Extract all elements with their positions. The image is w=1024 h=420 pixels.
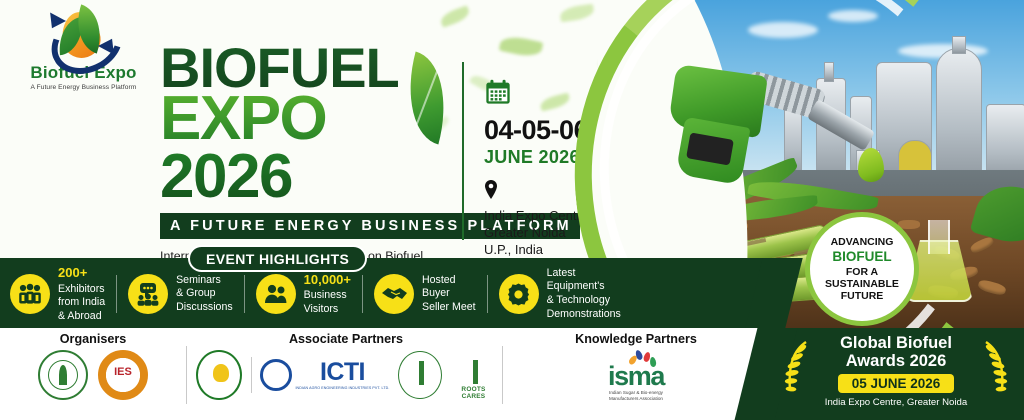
badge-line-4: SUSTAINABLE: [825, 278, 899, 290]
roots-cares-logo[interactable]: ROOTS CARES: [451, 351, 496, 400]
logo-mark-icon: [44, 8, 124, 63]
knowledge-partners-column: Knowledge Partners isma Indian Sugar & B…: [512, 332, 760, 402]
awards-date-badge: 05 JUNE 2026: [838, 374, 955, 393]
highlight-line: Equipment's: [547, 280, 605, 292]
highlight-line: Buyer: [422, 287, 450, 299]
organisers-title: Organisers: [0, 332, 186, 346]
highlight-line: Hosted: [422, 274, 456, 286]
highlight-line: & Abroad: [58, 310, 102, 322]
awards-venue: India Expo Centre, Greater Noida: [768, 397, 1024, 408]
highlight-line: Business: [304, 289, 347, 301]
awards-title-line-1: Global Biofuel: [768, 334, 1024, 352]
handshake-icon: [374, 274, 414, 314]
highlight-item-seminars: Seminars & Group Discussions: [128, 274, 233, 315]
icti-wordmark: ICTI: [295, 360, 389, 385]
sugarcane-institute-logo[interactable]: [196, 350, 242, 400]
footer-divider: [186, 346, 187, 404]
highlight-value: 200+: [58, 265, 105, 282]
isma-burst-icon: [512, 350, 760, 364]
biofuel-expo-logo[interactable]: Biofuel Expo A Future Energy Business Pl…: [16, 8, 151, 96]
badge-line-2: BIOFUEL: [832, 249, 891, 265]
highlight-line: Discussions: [176, 301, 233, 313]
event-highlights-pill: EVENT HIGHLIGHTS: [188, 245, 367, 272]
knowledge-partners-title: Knowledge Partners: [512, 332, 760, 346]
highlight-item-equipment: Latest Equipment's & Technology Demonstr…: [499, 267, 621, 321]
footer-divider: [502, 346, 503, 404]
location-pin-icon: [484, 180, 498, 199]
roots-cares-label: ROOTS CARES: [451, 386, 496, 400]
highlight-line: & Technology: [547, 294, 610, 306]
highlight-separator: [244, 275, 245, 313]
ies-logo[interactable]: IES: [98, 350, 148, 400]
exhibitors-group-icon: [10, 274, 50, 314]
badge-line-1: ADVANCING: [831, 236, 894, 248]
isma-wordmark: isma: [512, 364, 760, 388]
partners-footer: Organisers IES Associate Partners ICTI I…: [0, 328, 768, 420]
icti-emblem-icon: [260, 359, 292, 391]
icti-subtext: INDIAN AGRO ENGINEERING INDUSTRIES PVT. …: [295, 386, 389, 390]
green-seal-logo[interactable]: [398, 351, 442, 399]
highlight-separator: [116, 275, 117, 313]
highlight-line: & Group: [176, 287, 215, 299]
associate-partners-title: Associate Partners: [196, 332, 496, 346]
seminar-speech-icon: [128, 274, 168, 314]
sustainable-energy-forum-logo[interactable]: [38, 350, 88, 400]
badge-line-5: FUTURE: [841, 290, 884, 302]
highlight-item-exhibitors: 200+ Exhibitors from India & Abroad: [10, 265, 105, 323]
highlight-item-visitors: 10,000+ Business Visitors: [256, 272, 351, 317]
highlight-separator: [362, 275, 363, 313]
calendar-icon: [484, 78, 512, 106]
highlight-value: 10,000+: [304, 272, 351, 289]
visitors-people-icon: [256, 274, 296, 314]
vertical-divider: [462, 62, 464, 240]
highlight-line: from India: [58, 296, 105, 308]
global-biofuel-awards-panel: Global Biofuel Awards 2026 05 JUNE 2026 …: [768, 328, 1024, 420]
highlight-line: Latest: [547, 267, 576, 279]
logo-tagline: A Future Energy Business Platform: [16, 84, 151, 91]
highlight-item-buyer-seller: Hosted Buyer Seller Meet: [374, 274, 476, 315]
highlight-line: Exhibitors: [58, 283, 105, 295]
highlight-separator: [487, 275, 488, 313]
event-highlights-list: 200+ Exhibitors from India & Abroad: [10, 266, 760, 322]
highlight-line: Seminars: [176, 274, 221, 286]
icti-logo[interactable]: ICTI INDIAN AGRO ENGINEERING INDUSTRIES …: [260, 359, 389, 391]
highlight-line: Demonstrations: [547, 308, 621, 320]
isma-subtext-2: Manufacturers Association: [512, 396, 760, 402]
advancing-biofuel-badge: ADVANCING BIOFUEL FOR A SUSTAINABLE FUTU…: [805, 212, 919, 326]
awards-title-line-2: Awards 2026: [768, 352, 1024, 370]
highlight-line: Seller Meet: [422, 301, 476, 313]
fuel-nozzle-icon: [672, 52, 872, 202]
associate-partners-column: Associate Partners ICTI INDIAN AGRO ENGI…: [196, 332, 496, 400]
gear-icon: [499, 274, 539, 314]
highlight-line: Visitors: [304, 303, 339, 315]
badge-line-3: FOR A: [846, 266, 878, 278]
isma-logo[interactable]: isma Indian Sugar & Bio-energy Manufactu…: [512, 350, 760, 402]
biofuel-expo-banner: Biofuel Expo A Future Energy Business Pl…: [0, 0, 1024, 420]
organisers-column: Organisers IES: [0, 332, 186, 400]
